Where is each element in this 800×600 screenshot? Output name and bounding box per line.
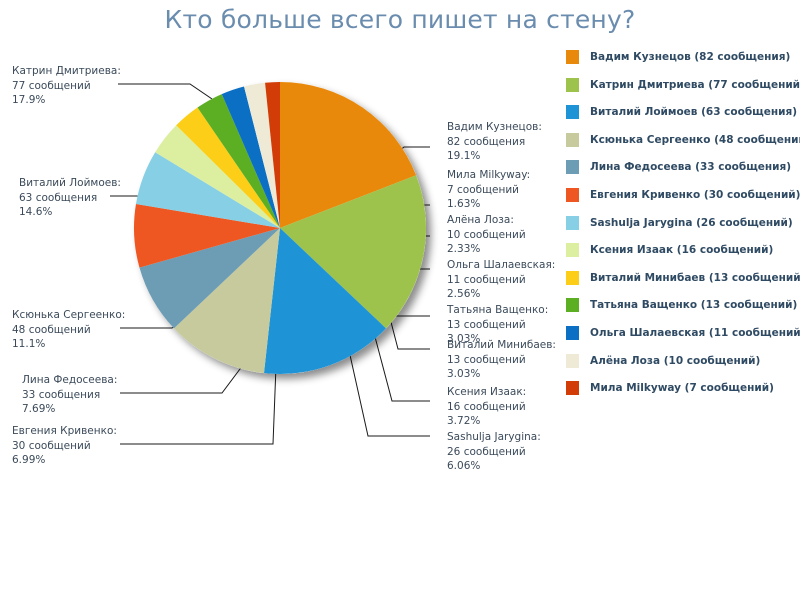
callout-name: Лина Федосеева:	[22, 373, 117, 388]
legend-item[interactable]: Лина Федосеева (33 сообщения)	[566, 160, 798, 174]
callout-vitaliy-loymoev: Виталий Лоймоев: 63 сообщения 14.6%	[19, 176, 121, 220]
callout-percent: 2.33%	[447, 242, 526, 257]
callout-name: Виталий Минибаев:	[447, 338, 556, 353]
callout-percent: 6.06%	[447, 459, 541, 474]
legend-color-swatch	[566, 381, 579, 395]
legend-color-swatch	[566, 160, 579, 174]
chart-legend: Вадим Кузнецов (82 сообщения)Катрин Дмит…	[566, 50, 798, 409]
callout-count: 11 сообщений	[447, 273, 555, 288]
legend-item[interactable]: Ольга Шалаевская (11 сообщений)	[566, 326, 798, 340]
legend-item-label: Татьяна Ващенко (13 сообщений)	[590, 298, 797, 312]
legend-item-label: Лина Федосеева (33 сообщения)	[590, 160, 791, 174]
callout-name: Вадим Кузнецов:	[447, 120, 542, 135]
callout-percent: 1.63%	[447, 197, 530, 212]
callout-percent: 17.9%	[12, 93, 121, 108]
legend-item[interactable]: Татьяна Ващенко (13 сообщений)	[566, 298, 798, 312]
callout-evgeniya: Евгения Кривенко: 30 сообщений 6.99%	[12, 424, 117, 468]
callout-name: Катрин Дмитриева:	[12, 64, 121, 79]
legend-color-swatch	[566, 216, 579, 230]
callout-katrin: Катрин Дмитриева: 77 сообщений 17.9%	[12, 64, 121, 108]
callout-name: Евгения Кривенко:	[12, 424, 117, 439]
legend-item-label: Мила Milkyway (7 сообщений)	[590, 381, 774, 395]
legend-item-label: Виталий Минибаев (13 сообщений)	[590, 271, 800, 285]
callout-count: 16 сообщений	[447, 400, 526, 415]
callout-count: 13 сообщений	[447, 318, 548, 333]
callout-name: Sashulja Jarygina:	[447, 430, 541, 445]
page-title: Кто больше всего пишет на стену?	[0, 5, 800, 34]
callout-count: 30 сообщений	[12, 439, 117, 454]
legend-color-swatch	[566, 354, 579, 368]
legend-item-label: Ксения Изаак (16 сообщений)	[590, 243, 773, 257]
callout-name: Ольга Шалаевская:	[447, 258, 555, 273]
legend-item[interactable]: Виталий Лоймоев (63 сообщения)	[566, 105, 798, 119]
callout-count: 13 сообщений	[447, 353, 556, 368]
callout-percent: 19.1%	[447, 149, 542, 164]
callout-percent: 3.72%	[447, 414, 526, 429]
callout-percent: 3.03%	[447, 367, 556, 382]
callout-name: Татьяна Ващенко:	[447, 303, 548, 318]
legend-color-swatch	[566, 326, 579, 340]
legend-color-swatch	[566, 298, 579, 312]
pie-slice-group	[134, 82, 426, 374]
callout-count: 77 сообщений	[12, 79, 121, 94]
callout-name: Ксения Изаак:	[447, 385, 526, 400]
callout-name: Ксюнька Сергеенко:	[12, 308, 125, 323]
callout-percent: 2.56%	[447, 287, 555, 302]
legend-color-swatch	[566, 50, 579, 64]
callout-count: 82 сообщения	[447, 135, 542, 150]
legend-color-swatch	[566, 78, 579, 92]
pie-svg	[130, 78, 440, 388]
callout-olga: Ольга Шалаевская: 11 сообщений 2.56%	[447, 258, 555, 302]
callout-name: Мила Milkyway:	[447, 168, 530, 183]
callout-percent: 11.1%	[12, 337, 125, 352]
callout-count: 48 сообщений	[12, 323, 125, 338]
legend-item-label: Ксюнька Сергеенко (48 сообщений)	[590, 133, 800, 147]
callout-count: 26 сообщений	[447, 445, 541, 460]
callout-mila: Мила Milkyway: 7 сообщений 1.63%	[447, 168, 530, 212]
legend-item-label: Sashulja Jarygina (26 сообщений)	[590, 216, 793, 230]
legend-item[interactable]: Катрин Дмитриева (77 сообщений)	[566, 78, 798, 92]
legend-color-swatch	[566, 133, 579, 147]
callout-vitaliy-minibaev: Виталий Минибаев: 13 сообщений 3.03%	[447, 338, 556, 382]
callout-vadim: Вадим Кузнецов: 82 сообщения 19.1%	[447, 120, 542, 164]
legend-item[interactable]: Sashulja Jarygina (26 сообщений)	[566, 216, 798, 230]
legend-color-swatch	[566, 105, 579, 119]
legend-item-label: Алёна Лоза (10 сообщений)	[590, 354, 760, 368]
legend-item-label: Ольга Шалаевская (11 сообщений)	[590, 326, 800, 340]
callout-count: 10 сообщений	[447, 228, 526, 243]
legend-item[interactable]: Ксюнька Сергеенко (48 сообщений)	[566, 133, 798, 147]
legend-item-label: Катрин Дмитриева (77 сообщений)	[590, 78, 800, 92]
callout-count: 7 сообщений	[447, 183, 530, 198]
callout-percent: 6.99%	[12, 453, 117, 468]
legend-color-swatch	[566, 243, 579, 257]
callout-kseniya: Ксения Изаак: 16 сообщений 3.72%	[447, 385, 526, 429]
legend-item[interactable]: Ксения Изаак (16 сообщений)	[566, 243, 798, 257]
callout-ksyunka: Ксюнька Сергеенко: 48 сообщений 11.1%	[12, 308, 125, 352]
callout-name: Виталий Лоймоев:	[19, 176, 121, 191]
legend-color-swatch	[566, 188, 579, 202]
legend-item[interactable]: Виталий Минибаев (13 сообщений)	[566, 271, 798, 285]
callout-sashulja: Sashulja Jarygina: 26 сообщений 6.06%	[447, 430, 541, 474]
pie-chart[interactable]	[130, 78, 440, 388]
callout-percent: 14.6%	[19, 205, 121, 220]
callout-percent: 7.69%	[22, 402, 117, 417]
legend-item-label: Виталий Лоймоев (63 сообщения)	[590, 105, 797, 119]
legend-item[interactable]: Мила Milkyway (7 сообщений)	[566, 381, 798, 395]
legend-color-swatch	[566, 271, 579, 285]
callout-name: Алёна Лоза:	[447, 213, 526, 228]
callout-lina: Лина Федосеева: 33 сообщения 7.69%	[22, 373, 117, 417]
legend-item[interactable]: Евгения Кривенко (30 сообщений)	[566, 188, 798, 202]
callout-count: 33 сообщения	[22, 388, 117, 403]
legend-item-label: Евгения Кривенко (30 сообщений)	[590, 188, 800, 202]
legend-item-label: Вадим Кузнецов (82 сообщения)	[590, 50, 790, 64]
legend-item[interactable]: Алёна Лоза (10 сообщений)	[566, 354, 798, 368]
chart-canvas: Кто больше всего пишет на стену?	[0, 0, 800, 600]
callout-count: 63 сообщения	[19, 191, 121, 206]
legend-item[interactable]: Вадим Кузнецов (82 сообщения)	[566, 50, 798, 64]
callout-alena: Алёна Лоза: 10 сообщений 2.33%	[447, 213, 526, 257]
